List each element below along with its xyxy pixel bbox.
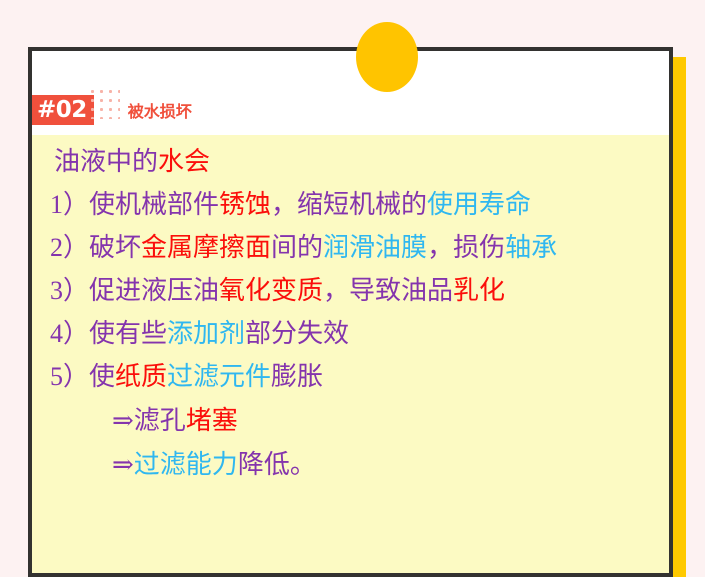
list-item: 2）破坏金属摩擦面间的润滑油膜，损伤轴承 xyxy=(32,218,669,261)
list-item-2-segment-4: ，损伤 xyxy=(427,233,505,262)
list-item-3-segment-1: 氧化变质 xyxy=(219,276,323,305)
slide-canvas: #02 被水损坏 油液中的水会 1）使机械部件锈蚀，缩短机械的使用寿命2）破坏金… xyxy=(0,0,705,563)
conclusion-2-segment-2: 降低。 xyxy=(238,450,316,479)
badge-number-label: #02 xyxy=(32,95,94,125)
intro-line: 油液中的水会 xyxy=(32,141,669,175)
conclusion-1-segment-1: 堵塞 xyxy=(186,406,238,435)
list-item-1-segment-1: 锈蚀 xyxy=(219,190,271,219)
numbered-list: 1）使机械部件锈蚀，缩短机械的使用寿命2）破坏金属摩擦面间的润滑油膜，损伤轴承3… xyxy=(32,175,669,390)
list-item-1-segment-2: ，缩短机械的 xyxy=(271,190,427,219)
conclusion-list: ⇒滤孔堵塞⇒过滤能力降低。 xyxy=(32,390,669,478)
list-item-2-segment-0: 2）破坏 xyxy=(50,233,141,262)
list-item: 5）使纸质过滤元件膨胀 xyxy=(32,347,669,390)
list-item-2-segment-1: 金属摩擦面 xyxy=(141,233,271,262)
conclusion-1-segment-0: ⇒滤孔 xyxy=(112,406,186,435)
card-header: #02 被水损坏 xyxy=(32,51,669,135)
intro-segment-1: 水会 xyxy=(158,147,210,176)
yellow-circle-decoration xyxy=(356,22,418,92)
list-item-3-segment-0: 3）促进液压油 xyxy=(50,276,219,305)
list-item-5-segment-1: 纸质 xyxy=(115,362,167,391)
conclusion-2-segment-0: ⇒ xyxy=(112,450,134,479)
list-item: 1）使机械部件锈蚀，缩短机械的使用寿命 xyxy=(32,175,669,218)
list-item-3-segment-3: 乳化 xyxy=(453,276,505,305)
intro-segment-0: 油液中的 xyxy=(54,147,158,176)
conclusion-line: ⇒过滤能力降低。 xyxy=(32,434,669,478)
list-item-5-segment-2: 过滤元件 xyxy=(167,362,271,391)
list-item: 4）使有些添加剂部分失效 xyxy=(32,304,669,347)
list-item-5-segment-3: 膨胀 xyxy=(271,362,323,391)
list-item-2-segment-5: 轴承 xyxy=(505,233,557,262)
list-item-4-segment-2: 部分失效 xyxy=(245,319,349,348)
badge-title-label: 被水损坏 xyxy=(128,98,192,122)
section-badge: #02 被水损坏 xyxy=(32,95,192,125)
list-item: 3）促进液压油氧化变质，导致油品乳化 xyxy=(32,261,669,304)
list-item-4-segment-0: 4）使有些 xyxy=(50,319,167,348)
list-item-2-segment-3: 润滑油膜 xyxy=(323,233,427,262)
list-item-5-segment-0: 5）使 xyxy=(50,362,115,391)
conclusion-2-segment-1: 过滤能力 xyxy=(134,450,238,479)
card-body: 油液中的水会 1）使机械部件锈蚀，缩短机械的使用寿命2）破坏金属摩擦面间的润滑油… xyxy=(32,135,669,573)
dot-pattern-decoration xyxy=(86,85,120,119)
content-card: #02 被水损坏 油液中的水会 1）使机械部件锈蚀，缩短机械的使用寿命2）破坏金… xyxy=(28,47,673,577)
list-item-1-segment-0: 1）使机械部件 xyxy=(50,190,219,219)
conclusion-line: ⇒滤孔堵塞 xyxy=(32,390,669,434)
list-item-4-segment-1: 添加剂 xyxy=(167,319,245,348)
list-item-3-segment-2: ，导致油品 xyxy=(323,276,453,305)
list-item-1-segment-3: 使用寿命 xyxy=(427,190,531,219)
list-item-2-segment-2: 间的 xyxy=(271,233,323,262)
